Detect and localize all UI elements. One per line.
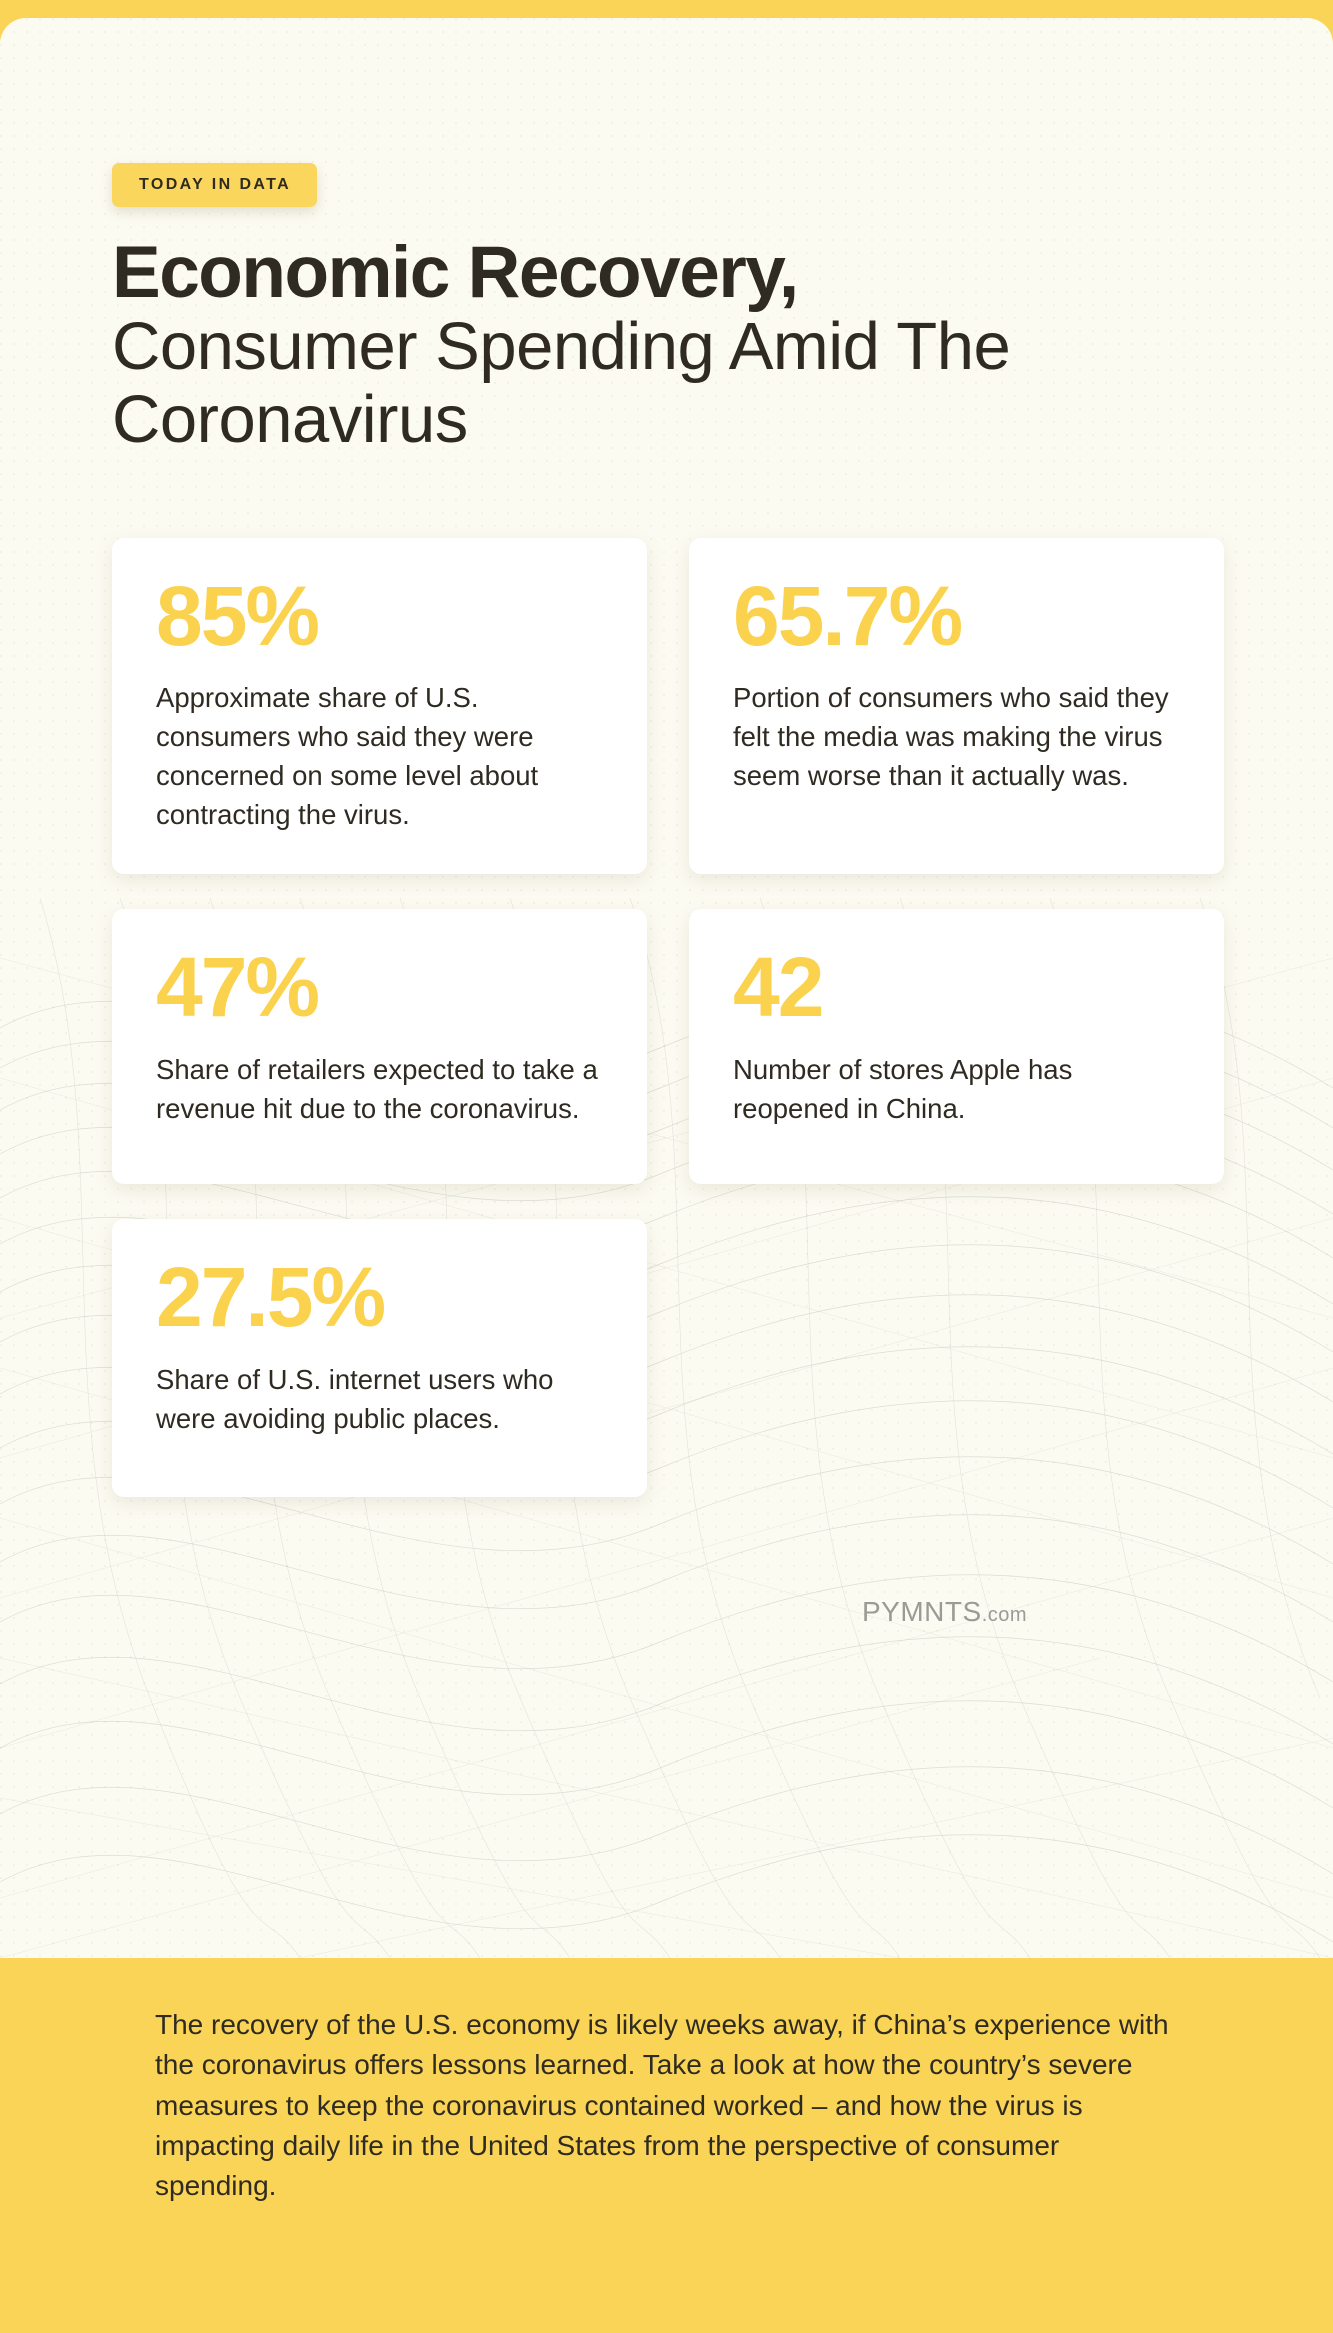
stat-description: Portion of consumers who said they felt … bbox=[733, 678, 1180, 795]
stat-card[interactable]: 47% Share of retailers expected to take … bbox=[112, 909, 647, 1184]
stat-value: 47% bbox=[156, 951, 603, 1023]
today-in-data-badge[interactable]: TODAY IN DATA bbox=[112, 163, 317, 207]
stat-value: 65.7% bbox=[733, 580, 1180, 652]
stat-description: Number of stores Apple has reopened in C… bbox=[733, 1050, 1180, 1128]
infographic-page: TODAY IN DATA Economic Recovery, Consume… bbox=[0, 0, 1333, 2333]
footer-summary-text: The recovery of the U.S. economy is like… bbox=[155, 2005, 1185, 2207]
footer-band: The recovery of the U.S. economy is like… bbox=[0, 1958, 1333, 2333]
stat-card-row-1: 85% Approximate share of U.S. consumers … bbox=[112, 538, 1224, 874]
page-title-line3: Coronavirus bbox=[112, 384, 1232, 455]
stat-card-grid: 85% Approximate share of U.S. consumers … bbox=[112, 538, 1224, 1532]
watermark-brand: PYMNTS bbox=[862, 1596, 982, 1627]
stat-card-row-3: 27.5% Share of U.S. internet users who w… bbox=[112, 1219, 1224, 1497]
stat-card[interactable]: 42 Number of stores Apple has reopened i… bbox=[689, 909, 1224, 1184]
stat-value: 42 bbox=[733, 951, 1180, 1023]
stat-value: 85% bbox=[156, 580, 603, 652]
stat-card[interactable]: 27.5% Share of U.S. internet users who w… bbox=[112, 1219, 647, 1497]
stat-card[interactable]: 85% Approximate share of U.S. consumers … bbox=[112, 538, 647, 874]
stat-card-row-2: 47% Share of retailers expected to take … bbox=[112, 909, 1224, 1184]
stat-description: Share of retailers expected to take a re… bbox=[156, 1050, 603, 1128]
stat-card[interactable]: 65.7% Portion of consumers who said they… bbox=[689, 538, 1224, 874]
stat-value: 27.5% bbox=[156, 1261, 603, 1333]
pymnts-watermark: PYMNTS.com bbox=[862, 1596, 1027, 1628]
stat-description: Share of U.S. internet users who were av… bbox=[156, 1360, 603, 1438]
page-title-line1: Economic Recovery, bbox=[112, 237, 1232, 309]
empty-grid-slot bbox=[689, 1219, 1224, 1497]
watermark-suffix: .com bbox=[982, 1604, 1027, 1626]
page-title-line2: Consumer Spending Amid The bbox=[112, 311, 1232, 382]
header-block: TODAY IN DATA Economic Recovery, Consume… bbox=[112, 163, 1232, 455]
main-panel: TODAY IN DATA Economic Recovery, Consume… bbox=[0, 18, 1333, 1958]
stat-description: Approximate share of U.S. consumers who … bbox=[156, 678, 603, 834]
